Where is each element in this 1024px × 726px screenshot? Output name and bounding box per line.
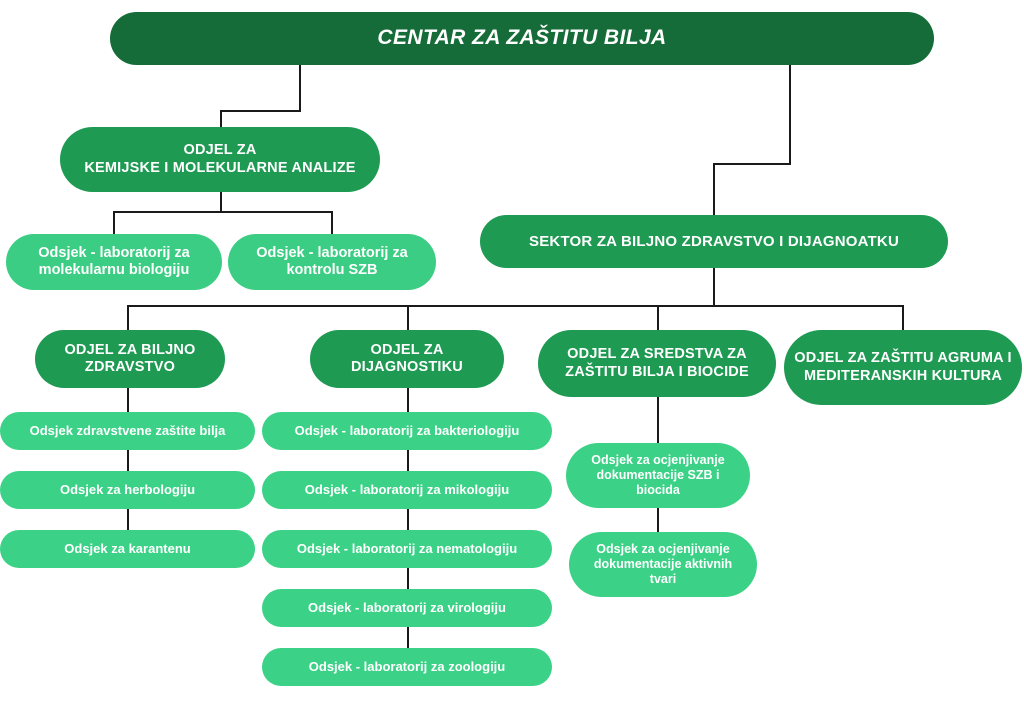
connector-dg-chain-5: [407, 627, 409, 649]
node-odjel-za-zastitu-agruma-i-mediteranskih-kultura[interactable]: ODJEL ZA ZAŠTITU AGRUMA I MEDITERANSKIH …: [784, 330, 1022, 405]
node-odsjek-za-ocjenjivanje-dokumentacije-szb-i-biocida[interactable]: Odsjek za ocjenjivanje dokumentacije SZB…: [566, 443, 750, 508]
connector-sektor-drop-3: [657, 305, 659, 330]
connector-sektor-drop-4: [902, 305, 904, 330]
org-chart: CENTAR ZA ZAŠTITU BILJA ODJEL ZA KEMIJSK…: [0, 0, 1024, 726]
node-odsjek-laboratorij-za-bakteriologiju[interactable]: Odsjek - laboratorij za bakteriologiju: [262, 412, 552, 450]
node-odsjek-laboratorij-za-kontrolu-szb[interactable]: Odsjek - laboratorij za kontrolu SZB: [228, 234, 436, 290]
connector-dg-chain-3: [407, 509, 409, 531]
connector-sektor-stem: [713, 268, 715, 307]
connector-bz-chain-1: [127, 388, 129, 412]
connector-dg-chain-2: [407, 450, 409, 472]
connector-root-to-kemijske-v1: [299, 62, 301, 111]
connector-root-to-sektor-v2: [713, 163, 715, 215]
node-odsjek-laboratorij-za-molekularnu-biologiju[interactable]: Odsjek - laboratorij za molekularnu biol…: [6, 234, 222, 290]
connector-bz-chain-3: [127, 509, 129, 531]
node-odsjek-laboratorij-za-nematologiju[interactable]: Odsjek - laboratorij za nematologiju: [262, 530, 552, 568]
node-odsjek-za-karantenu[interactable]: Odsjek za karantenu: [0, 530, 255, 568]
node-odsjek-za-herbologiju[interactable]: Odsjek za herbologiju: [0, 471, 255, 509]
connector-kemijske-drop-1: [113, 211, 115, 234]
connector-sektor-drop-2: [407, 305, 409, 330]
node-sektor-za-biljno-zdravstvo-i-dijagnoatku[interactable]: SEKTOR ZA BILJNO ZDRAVSTVO I DIJAGNOATKU: [480, 215, 948, 268]
node-odjel-za-biljno-zdravstvo[interactable]: ODJEL ZA BILJNO ZDRAVSTVO: [35, 330, 225, 388]
node-label-line-2: KEMIJSKE I MOLEKULARNE ANALIZE: [84, 160, 355, 177]
node-odjel-za-dijagnostiku[interactable]: ODJEL ZA DIJAGNOSTIKU: [310, 330, 504, 388]
connector-root-to-sektor-v1: [789, 62, 791, 165]
node-odsjek-laboratorij-za-virologiju[interactable]: Odsjek - laboratorij za virologiju: [262, 589, 552, 627]
connector-root-to-kemijske-h: [220, 110, 301, 112]
connector-dg-chain-1: [407, 388, 409, 412]
connector-kemijske-stem: [220, 190, 222, 212]
connector-dg-chain-4: [407, 568, 409, 590]
connector-sektor-bus: [127, 305, 904, 307]
connector-root-to-sektor-h: [713, 163, 791, 165]
connector-bz-chain-2: [127, 450, 129, 472]
node-odsjek-zdravstvene-zastite-bilja[interactable]: Odsjek zdravstvene zaštite bilja: [0, 412, 255, 450]
node-label-line-1: ODJEL ZA: [183, 142, 256, 159]
connector-kemijske-bus: [113, 211, 332, 213]
node-odsjek-za-ocjenjivanje-dokumentacije-aktivnih-tvari[interactable]: Odsjek za ocjenjivanje dokumentacije akt…: [569, 532, 757, 597]
node-odsjek-laboratorij-za-mikologiju[interactable]: Odsjek - laboratorij za mikologiju: [262, 471, 552, 509]
connector-sr-chain-2: [657, 508, 659, 532]
connector-root-to-kemijske-v2: [220, 110, 222, 128]
connector-sr-chain-1: [657, 397, 659, 443]
node-odjel-za-kemijske-i-molekularne-analize[interactable]: ODJEL ZA KEMIJSKE I MOLEKULARNE ANALIZE: [60, 127, 380, 192]
node-root-centar-za-zastitu-bilja[interactable]: CENTAR ZA ZAŠTITU BILJA: [110, 12, 934, 65]
connector-sektor-drop-1: [127, 305, 129, 330]
node-odjel-za-sredstva-za-zastitu-bilja-i-biocide[interactable]: ODJEL ZA SREDSTVA ZA ZAŠTITU BILJA I BIO…: [538, 330, 776, 397]
node-odsjek-laboratorij-za-zoologiju[interactable]: Odsjek - laboratorij za zoologiju: [262, 648, 552, 686]
connector-kemijske-drop-2: [331, 211, 333, 234]
